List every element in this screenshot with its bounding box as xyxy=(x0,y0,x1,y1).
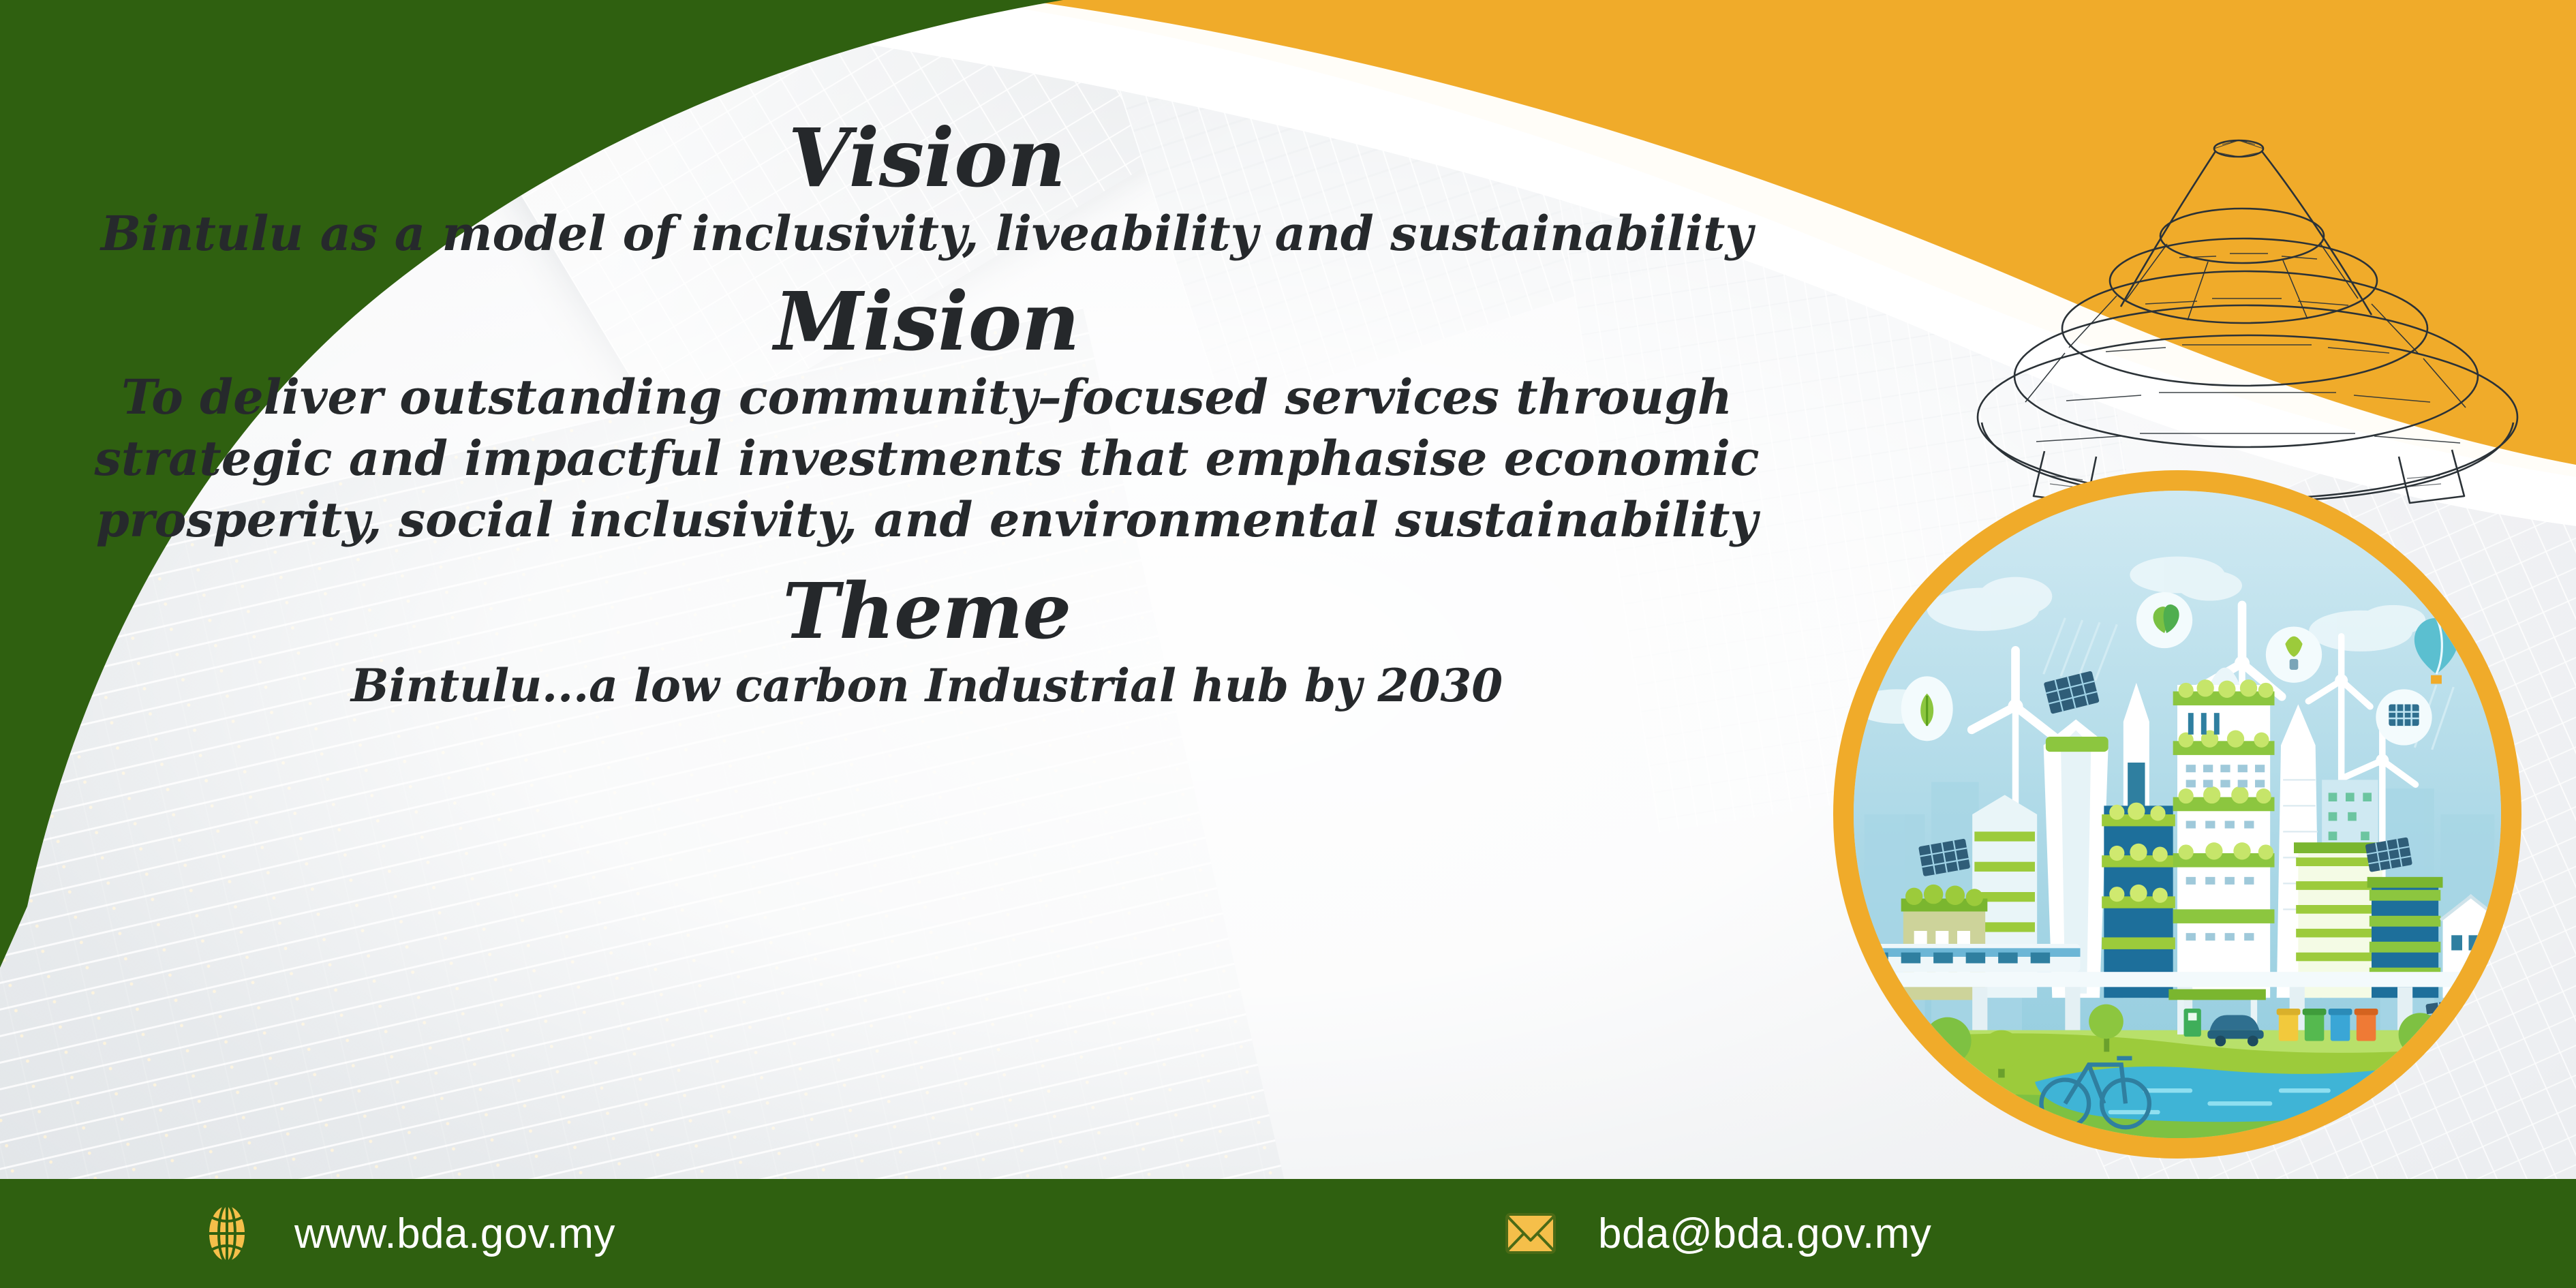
footer-email-item[interactable]: bda@bda.gov.my xyxy=(1501,1202,1931,1265)
theme-statement: Bintulu...a low carbon Industrial hub by… xyxy=(0,659,1854,713)
email-label: bda@bda.gov.my xyxy=(1598,1210,1931,1258)
stadium-sketch-icon xyxy=(1963,102,2576,504)
footer-bar: www.bda.gov.my bda@bda.gov.my xyxy=(0,1179,2576,1288)
theme-heading: Theme xyxy=(0,572,1854,652)
content-column: Vision Bintulu as a model of inclusivity… xyxy=(0,116,1854,713)
mission-line-1: To deliver outstanding community–focused… xyxy=(0,367,1854,428)
poster-canvas: Vision Bintulu as a model of inclusivity… xyxy=(0,0,2576,1288)
vision-statement: Bintulu as a model of inclusivity, livea… xyxy=(0,206,1854,262)
eco-city-illustration xyxy=(1833,470,2521,1159)
footer-website-item[interactable]: www.bda.gov.my xyxy=(198,1202,615,1265)
envelope-icon xyxy=(1501,1202,1560,1265)
theme-block: Theme Bintulu...a low carbon Industrial … xyxy=(0,572,1854,713)
mission-statement: To deliver outstanding community–focused… xyxy=(0,367,1854,550)
mission-line-2: strategic and impactful investments that… xyxy=(0,428,1854,489)
eco-city-svg xyxy=(1854,491,2501,1138)
mission-block: Mision To deliver outstanding community–… xyxy=(0,279,1854,550)
mission-heading: Mision xyxy=(0,279,1854,364)
mission-line-3: prosperity, social inclusivity, and envi… xyxy=(0,489,1854,551)
globe-icon xyxy=(198,1202,256,1265)
website-label: www.bda.gov.my xyxy=(294,1210,615,1258)
vision-block: Vision Bintulu as a model of inclusivity… xyxy=(0,116,1854,262)
vision-heading: Vision xyxy=(0,116,1854,200)
